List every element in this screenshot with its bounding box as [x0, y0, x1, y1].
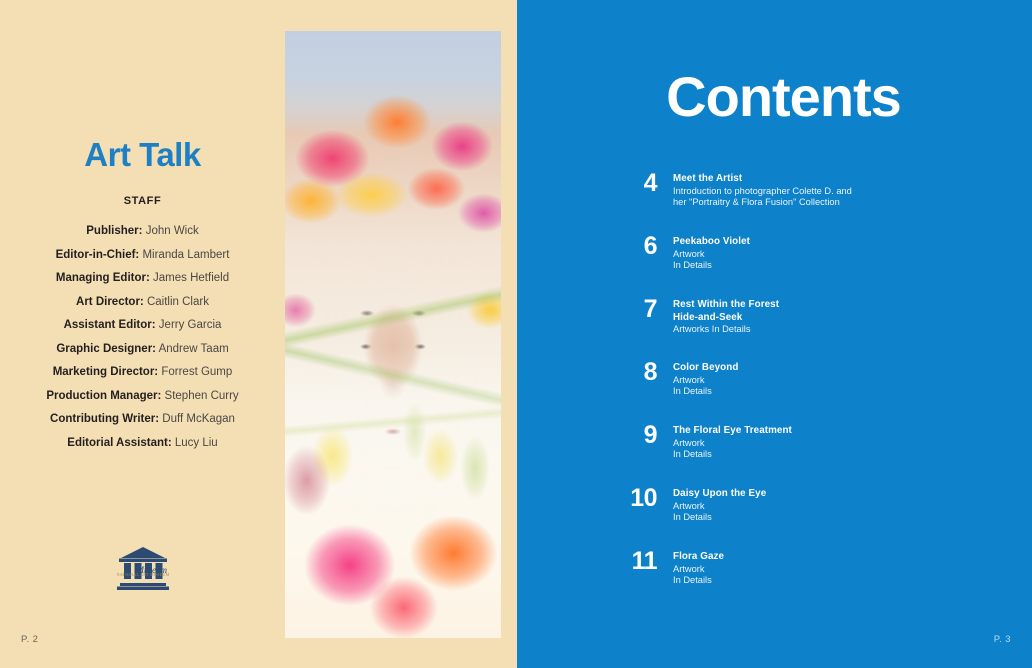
toc-entry-title: Peekaboo Violet — [673, 236, 1005, 249]
toc-entry-line: In Details — [673, 260, 1005, 272]
staff-row: Managing Editor: James Hetfield — [0, 267, 285, 291]
logo-script-wordmark: Museum — [113, 565, 173, 575]
toc-page-number: 9 — [605, 422, 657, 448]
toc-entry-line: Artwork — [673, 501, 1005, 513]
right-page: Contents 4 Meet the Artist Introduction … — [517, 0, 1032, 668]
staff-row: Graphic Designer: Andrew Taam — [0, 338, 285, 362]
staff-name: John Wick — [146, 225, 199, 237]
staff-role: Production Manager: — [46, 390, 161, 402]
toc-entry-line: Artwork — [673, 249, 1005, 261]
staff-name: Miranda Lambert — [142, 249, 229, 261]
toc-page-number: 4 — [605, 170, 657, 196]
staff-row: Editor-in-Chief: Miranda Lambert — [0, 244, 285, 268]
staff-name: Lucy Liu — [175, 437, 218, 449]
staff-name: Andrew Taam — [159, 343, 229, 355]
staff-role: Assistant Editor: — [64, 319, 156, 331]
staff-role: Editorial Assistant: — [67, 437, 171, 449]
staff-row: Art Director: Caitlin Clark — [0, 291, 285, 315]
staff-row: Editorial Assistant: Lucy Liu — [0, 432, 285, 456]
page-number-right: P. 3 — [994, 634, 1011, 645]
masthead-column: Art Talk STAFF Publisher: John Wick Edit… — [0, 0, 285, 668]
toc-entry[interactable]: 10 Daisy Upon the Eye Artwork In Details — [605, 485, 1005, 535]
staff-name: Stephen Curry — [165, 390, 239, 402]
toc-entry-line: Introduction to photographer Colette D. … — [673, 186, 1005, 198]
toc-entry-line: In Details — [673, 386, 1005, 398]
staff-row: Publisher: John Wick — [0, 220, 285, 244]
staff-role: Managing Editor: — [56, 272, 150, 284]
staff-name: Jerry Garcia — [159, 319, 222, 331]
toc-entry-body: Rest Within the Forest Hide-and-Seek Art… — [673, 296, 1005, 336]
toc-entry[interactable]: 11 Flora Gaze Artwork In Details — [605, 548, 1005, 598]
staff-name: Duff McKagan — [162, 413, 235, 425]
toc-entry-title: Flora Gaze — [673, 551, 1005, 564]
staff-role: Publisher: — [86, 225, 142, 237]
staff-role: Art Director: — [76, 296, 144, 308]
toc-entry-title: Color Beyond — [673, 362, 1005, 375]
toc-entry-subtitle: Hide-and-Seek — [673, 312, 1005, 325]
staff-list: Publisher: John Wick Editor-in-Chief: Mi… — [0, 220, 285, 455]
toc-entry-title: Meet the Artist — [673, 173, 1005, 186]
magazine-spread: Art Talk STAFF Publisher: John Wick Edit… — [0, 0, 1032, 668]
toc-page-number: 11 — [605, 548, 657, 574]
toc-entry[interactable]: 9 The Floral Eye Treatment Artwork In De… — [605, 422, 1005, 472]
magazine-title: Art Talk — [0, 136, 285, 174]
toc-entry-title: The Floral Eye Treatment — [673, 425, 1005, 438]
photo-soft-focus-layer — [285, 31, 501, 638]
toc-entry-body: Peekaboo Violet Artwork In Details — [673, 233, 1005, 272]
staff-role: Graphic Designer: — [56, 343, 156, 355]
toc-page-number: 10 — [605, 485, 657, 511]
staff-name: Caitlin Clark — [147, 296, 209, 308]
toc-page-number: 6 — [605, 233, 657, 259]
toc-entry-line: In Details — [673, 512, 1005, 524]
toc-entry[interactable]: 6 Peekaboo Violet Artwork In Details — [605, 233, 1005, 283]
contents-title: Contents — [517, 64, 1032, 129]
staff-row: Contributing Writer: Duff McKagan — [0, 408, 285, 432]
staff-role: Contributing Writer: — [50, 413, 159, 425]
toc-entry-body: Daisy Upon the Eye Artwork In Details — [673, 485, 1005, 524]
staff-role: Editor-in-Chief: — [56, 249, 140, 261]
page-number-left: P. 2 — [21, 634, 38, 645]
toc-entry[interactable]: 4 Meet the Artist Introduction to photog… — [605, 170, 1005, 220]
toc-entry-line: Artwork — [673, 438, 1005, 450]
staff-heading: STAFF — [0, 195, 285, 207]
staff-role: Marketing Director: — [53, 366, 158, 378]
toc-entry-line: her "Portraitry & Flora Fusion" Collecti… — [673, 197, 1005, 209]
toc-entry[interactable]: 8 Color Beyond Artwork In Details — [605, 359, 1005, 409]
toc-entry-line: In Details — [673, 449, 1005, 461]
toc-entry-line: Artwork — [673, 375, 1005, 387]
toc-entry-body: The Floral Eye Treatment Artwork In Deta… — [673, 422, 1005, 461]
toc-entry-line: In Details — [673, 575, 1005, 587]
toc-entry-line: Artwork — [673, 564, 1005, 576]
toc-entry-body: Meet the Artist Introduction to photogra… — [673, 170, 1005, 209]
toc-entry-title: Rest Within the Forest — [673, 299, 1005, 312]
cover-photo — [285, 31, 501, 638]
table-of-contents: 4 Meet the Artist Introduction to photog… — [605, 170, 1005, 611]
staff-row: Assistant Editor: Jerry Garcia — [0, 314, 285, 338]
toc-entry-line: Artworks In Details — [673, 324, 1005, 336]
toc-entry[interactable]: 7 Rest Within the Forest Hide-and-Seek A… — [605, 296, 1005, 346]
toc-entry-body: Flora Gaze Artwork In Details — [673, 548, 1005, 587]
toc-page-number: 8 — [605, 359, 657, 385]
staff-name: Forrest Gump — [161, 366, 232, 378]
staff-row: Production Manager: Stephen Curry — [0, 385, 285, 409]
toc-entry-title: Daisy Upon the Eye — [673, 488, 1005, 501]
staff-name: James Hetfield — [153, 272, 229, 284]
staff-row: Marketing Director: Forrest Gump — [0, 361, 285, 385]
toc-entry-body: Color Beyond Artwork In Details — [673, 359, 1005, 398]
toc-page-number: 7 — [605, 296, 657, 322]
